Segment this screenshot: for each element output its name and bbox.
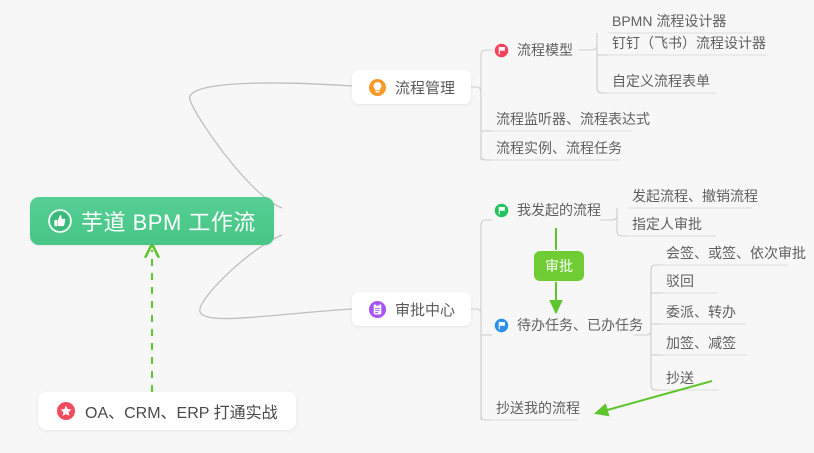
sub-label-process-model: 流程模型 [517,40,573,60]
leaf-node-delegate-transfer[interactable]: 委派、转办 [662,300,742,324]
leaf-node-custom-form[interactable]: 自定义流程表单 [608,69,716,93]
connector-model-to-bpmn [578,33,597,50]
flag-icon [494,318,509,333]
connector-root-to-approval-center [200,235,352,319]
leaf-label-dingtalk-designer: 钉钉（飞书）流程设计器 [612,33,766,53]
integration-callout-label: OA、CRM、ERP 打通实战 [85,399,278,423]
connector-initiated-spine [617,208,628,236]
connector-model-spine [597,33,608,93]
leaf-label-custom-form: 自定义流程表单 [612,71,710,91]
leaf-node-start-cancel-process[interactable]: 发起流程、撤销流程 [628,184,764,208]
approval-chip[interactable]: 审批 [534,251,584,281]
leaf-label-start-cancel-process: 发起流程、撤销流程 [632,186,758,206]
root-node[interactable]: 芋道 BPM 工作流 [30,197,274,245]
leaf-label-countersign: 会签、或签、依次审批 [666,243,806,263]
connector-root-to-process-management [190,83,352,208]
leaf-label-process-listener: 流程监听器、流程表达式 [496,109,650,129]
flag-icon [494,43,509,58]
sub-node-process-model[interactable]: 流程模型 [492,37,577,63]
branch-label-approval-center: 审批中心 [395,299,455,320]
connector-pm-to-process-model [481,50,492,55]
connector-ac-trunk [464,309,492,420]
leaf-node-cc-to-me[interactable]: 抄送我的流程 [492,396,586,420]
root-label: 芋道 BPM 工作流 [81,205,256,237]
leaf-node-reject[interactable]: 驳回 [662,269,700,293]
leaf-node-cc[interactable]: 抄送 [662,366,700,390]
sub-label-todo-done-tasks: 待办任务、已办任务 [517,315,643,335]
integration-callout-node[interactable]: OA、CRM、ERP 打通实战 [38,392,296,430]
leaf-label-assignee-approve: 指定人审批 [632,214,702,234]
sub-label-my-initiated: 我发起的流程 [517,200,601,220]
connector-todo-to-countersign [651,265,662,270]
leaf-node-dingtalk-designer[interactable]: 钉钉（飞书）流程设计器 [608,31,772,55]
leaf-label-cc-to-me: 抄送我的流程 [496,398,580,418]
leaf-label-bpmn-designer: BPMN 流程设计器 [612,11,726,31]
connector-ac-to-my-initiated [481,220,492,225]
lightbulb-icon [368,78,387,97]
leaf-label-reject: 驳回 [666,271,694,291]
sub-node-todo-done-tasks[interactable]: 待办任务、已办任务 [492,312,647,338]
leaf-label-add-remove-sign: 加签、减签 [666,333,736,353]
branch-node-process-management[interactable]: 流程管理 [352,70,471,104]
flag-icon [494,203,509,218]
leaf-label-delegate-transfer: 委派、转办 [666,302,736,322]
mindmap-canvas: 芋道 BPM 工作流 流程管理 流程模型 BPMN 流程设计器 钉钉（飞书）流程… [0,0,814,453]
thumbs-up-icon [48,209,72,233]
leaf-label-process-instance: 流程实例、流程任务 [496,138,622,158]
connector-todo-spine [651,270,662,390]
star-icon [56,401,76,421]
approval-chip-label: 审批 [545,256,573,276]
clipboard-icon [368,300,387,319]
leaf-node-process-listener[interactable]: 流程监听器、流程表达式 [492,107,656,131]
leaf-node-process-instance[interactable]: 流程实例、流程任务 [492,136,628,160]
leaf-label-cc: 抄送 [666,368,694,388]
leaf-node-countersign[interactable]: 会签、或签、依次审批 [662,241,812,265]
leaf-node-add-remove-sign[interactable]: 加签、减签 [662,331,742,355]
leaf-node-bpmn-designer[interactable]: BPMN 流程设计器 [608,9,732,33]
branch-node-approval-center[interactable]: 审批中心 [352,292,471,326]
branch-label-process-management: 流程管理 [395,77,455,98]
sub-node-my-initiated[interactable]: 我发起的流程 [492,197,605,223]
leaf-node-assignee-approve[interactable]: 指定人审批 [628,212,708,236]
